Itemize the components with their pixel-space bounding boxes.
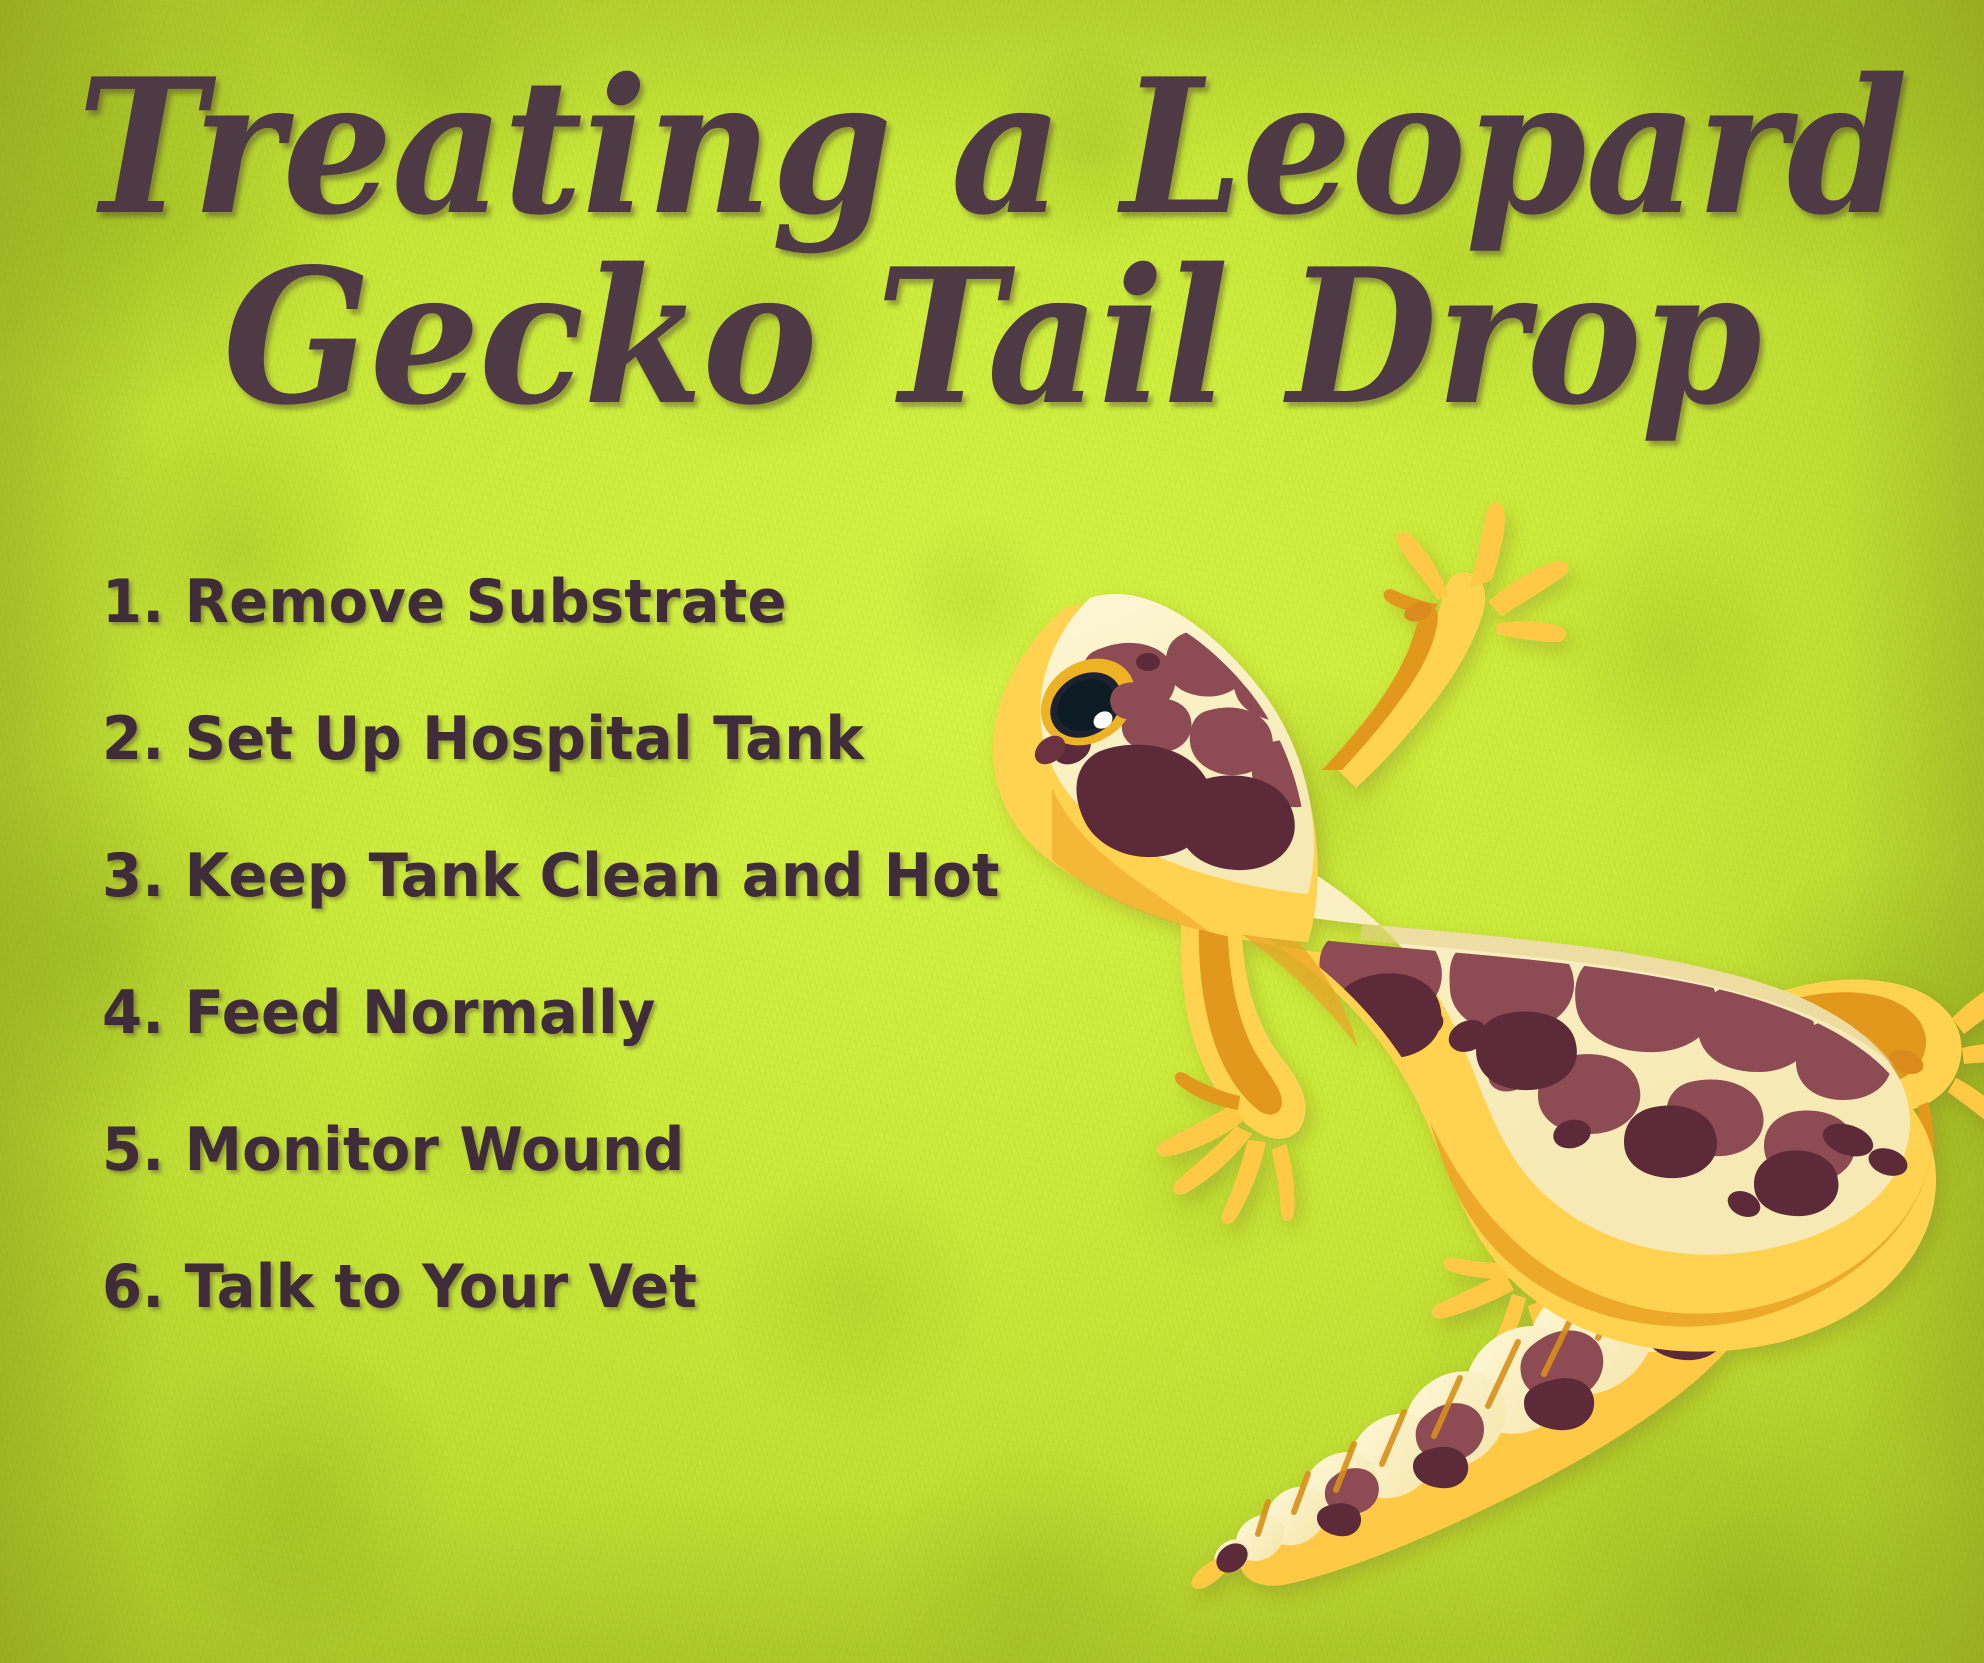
list-item: 4. Feed Normally — [102, 983, 966, 1043]
list-item: 6. Talk to Your Vet — [102, 1257, 966, 1317]
list-item: 2. Set Up Hospital Tank — [102, 709, 966, 769]
page-title: Treating a Leopard Gecko Tail Drop — [69, 52, 1914, 431]
list-item: 3. Keep Tank Clean and Hot — [102, 846, 966, 906]
steps-list: 1. Remove Substrate 2. Set Up Hospital T… — [102, 572, 1002, 1317]
list-item: 5. Monitor Wound — [102, 1120, 966, 1180]
poster-canvas: Treating a Leopard Gecko Tail Drop 1. Re… — [0, 0, 1984, 1663]
list-item: 1. Remove Substrate — [102, 572, 966, 632]
